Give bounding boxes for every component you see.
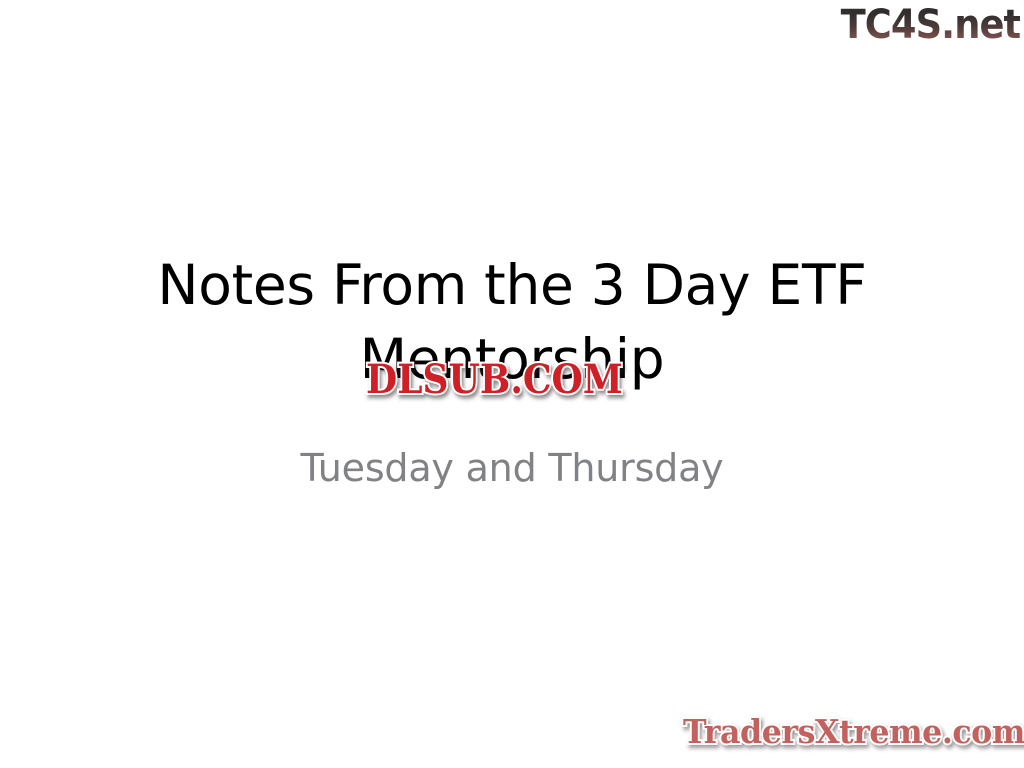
slide-subtitle: Tuesday and Thursday (0, 444, 1024, 492)
dlsub-com-watermark: DLSUB.COM (366, 358, 623, 402)
tradersxtreme-com-watermark: TradersXtreme.com (683, 712, 1024, 752)
presentation-slide: TC4S.net Notes From the 3 Day ETF Mentor… (0, 0, 1024, 768)
tc4s-net-logo: TC4S.net (840, 2, 1020, 48)
title-line-1: Notes From the 3 Day ETF (0, 248, 1024, 322)
